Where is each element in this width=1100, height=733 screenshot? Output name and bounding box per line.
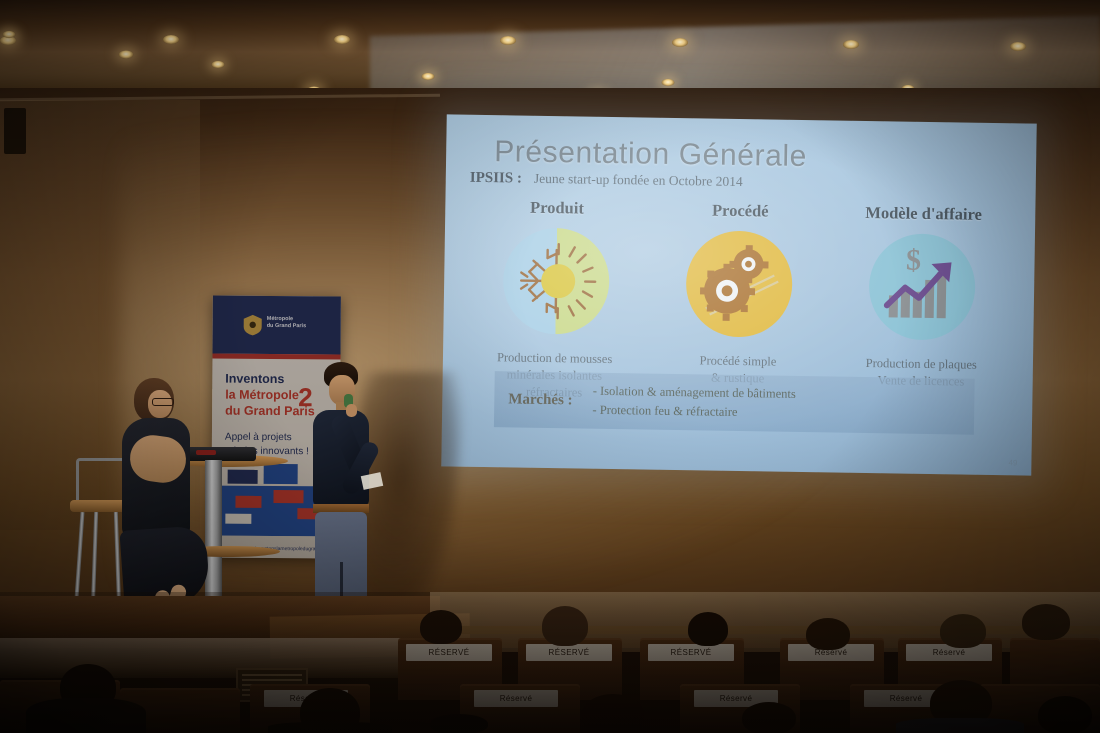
audience-rail [430,626,1100,634]
ceiling-downlight [119,50,133,58]
audience-head [1038,696,1092,733]
reserved-sign: Réservé [474,690,558,707]
ceiling-downlight [672,38,688,47]
ceiling-downlight [163,35,179,44]
standing-presenter-hand [346,404,357,417]
ceiling-downlight [212,61,225,68]
glasses-icon [152,398,174,406]
audience-head [582,694,644,733]
wall-speaker-left [4,108,26,154]
ceiling-downlight [334,35,350,44]
audience-head [940,614,986,648]
audience-head [1022,604,1070,640]
reserved-sign: RÉSERVÉ [648,644,734,661]
audience-head [430,714,488,733]
ceiling-downlight [1010,42,1026,51]
audience-shoulders [26,698,146,733]
presentation-photo-scene: Présentation Générale IPSIIS : Jeune sta… [0,0,1100,733]
ceiling-downlight [662,79,675,86]
audience-head [806,618,850,650]
ceiling-downlight [422,73,435,80]
reserved-sign: RÉSERVÉ [526,644,612,661]
reserved-sign: RÉSERVÉ [406,644,492,661]
audience-head [742,702,796,733]
audience-head [420,610,462,644]
projection-screen: Présentation Générale IPSIIS : Jeune sta… [441,114,1036,475]
ceiling-downlight [843,40,859,49]
audience-head [688,612,728,646]
ceiling-downlight [500,36,516,45]
ceiling-downlight [3,31,16,38]
audience-shoulders [896,718,1024,733]
audience-area: RÉSERVÉRÉSERVÉRÉSERVÉRéservéRéservéRéser… [0,592,1100,733]
screen-vignette [441,114,1036,475]
audience-head [542,606,588,646]
reserved-sign: Réservé [906,644,992,661]
audience-shoulders [268,722,392,733]
